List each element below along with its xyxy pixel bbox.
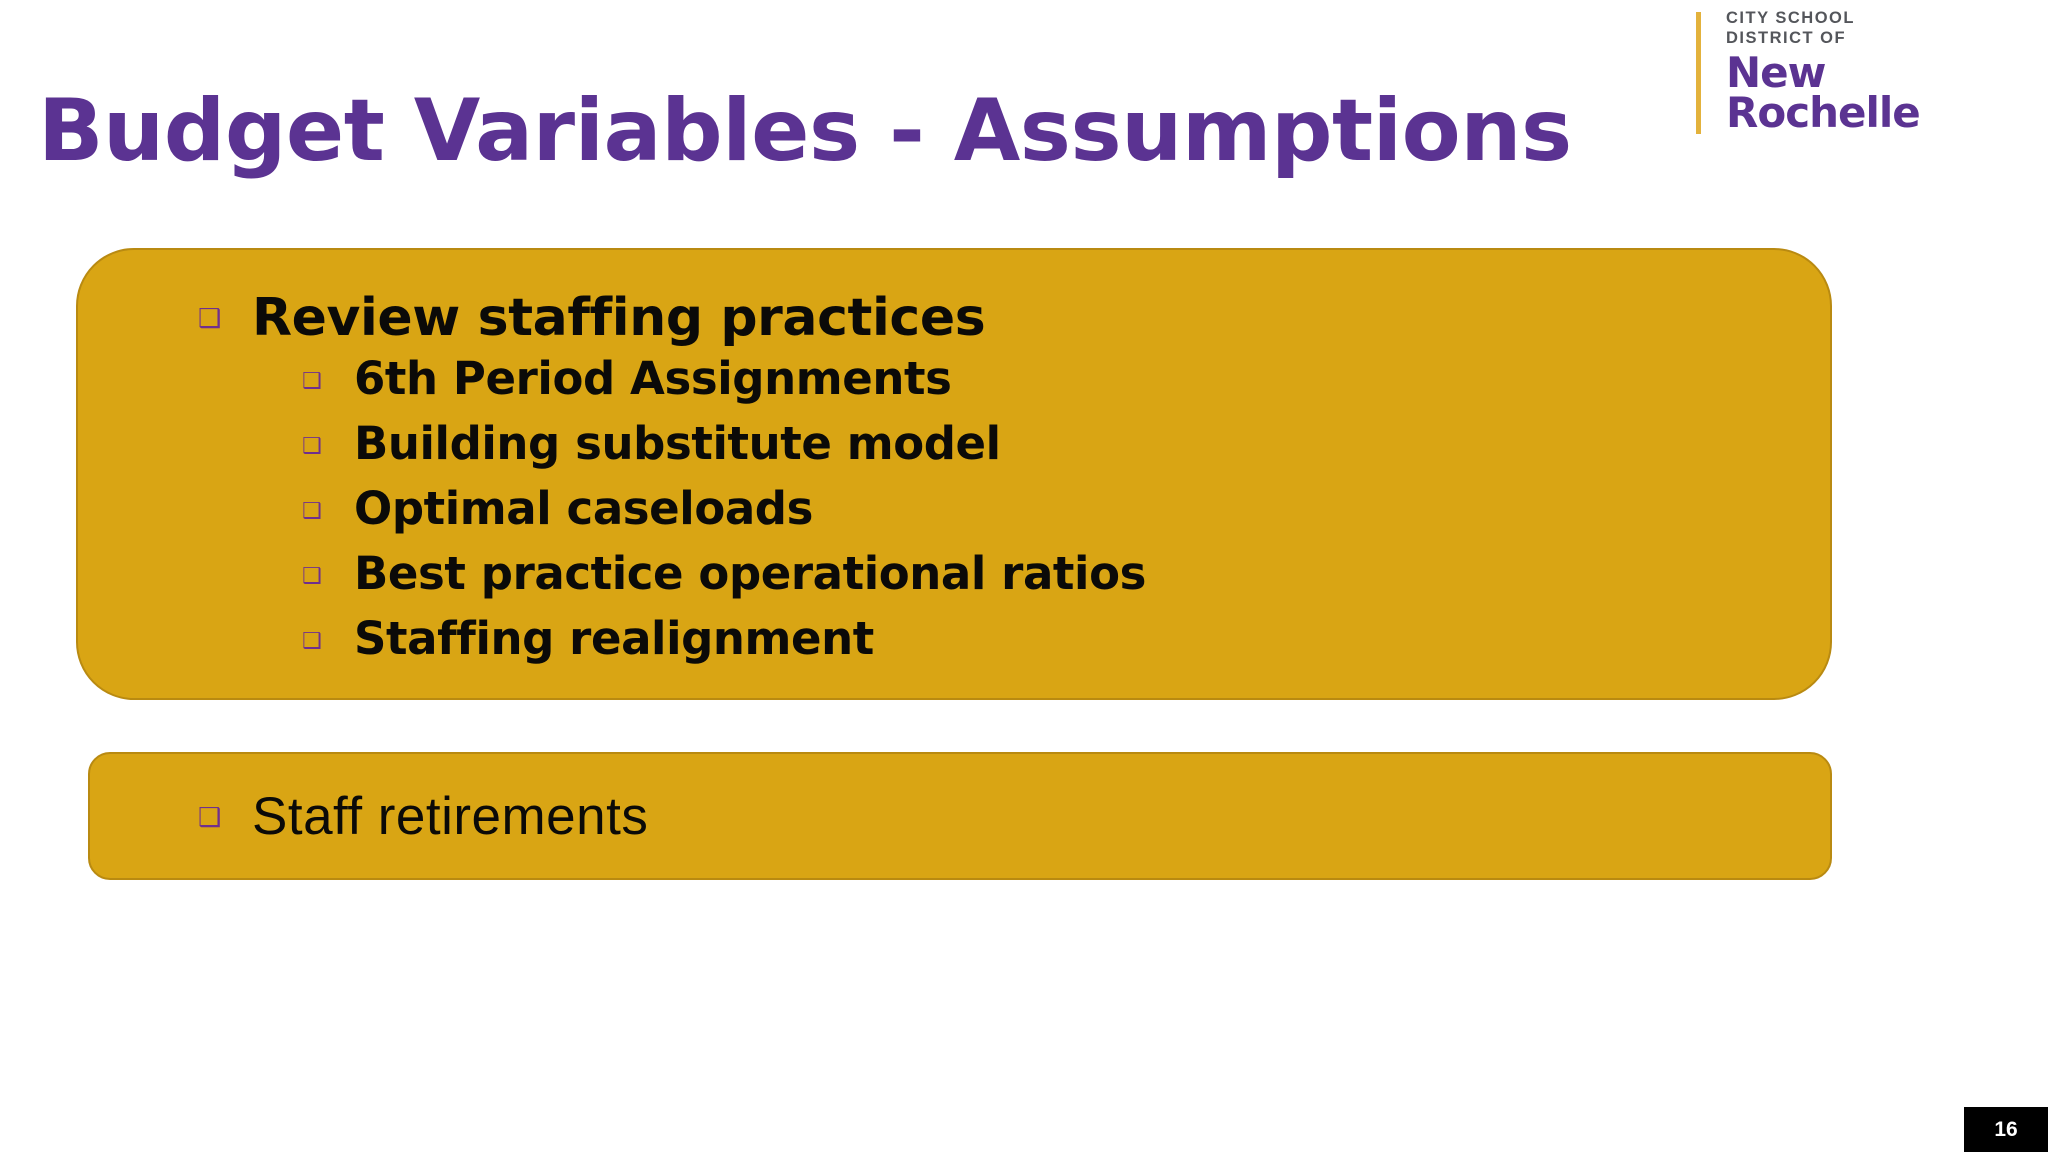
list-item-label: Optimal caseloads <box>354 482 813 535</box>
list-item-label: Review staffing practices <box>252 288 985 348</box>
list-item: ❑ Building substitute model <box>302 417 1001 470</box>
logo-name-line-2: Rochelle <box>1726 91 2032 134</box>
list-item: ❑ Best practice operational ratios <box>302 547 1146 600</box>
district-logo-text: CITY SCHOOL DISTRICT OF New Rochelle <box>1726 8 2032 138</box>
list-item: ❑ Optimal caseloads <box>302 482 813 535</box>
bullet-square-icon: ❑ <box>302 436 354 458</box>
list-item-label: Best practice operational ratios <box>354 547 1146 600</box>
page-title: Budget Variables - Assumptions <box>38 74 1678 190</box>
vertical-rule-icon <box>1696 12 1701 134</box>
list-item: ❑ Staffing realignment <box>302 612 874 665</box>
bullet-square-icon: ❑ <box>198 805 252 831</box>
list-item: ❑ 6th Period Assignments <box>302 352 951 405</box>
page-number-value: 16 <box>1994 1119 2017 1140</box>
logo-kicker-line-1: CITY SCHOOL <box>1726 8 2032 28</box>
page-number-badge: 16 <box>1964 1107 2048 1152</box>
bullet-square-icon: ❑ <box>302 371 354 393</box>
logo-kicker-line-2: DISTRICT OF <box>1726 28 2032 48</box>
list-item: ❑ Staff retirements <box>198 786 648 848</box>
list-item-label: Building substitute model <box>354 417 1001 470</box>
bullet-square-icon: ❑ <box>302 631 354 653</box>
list-item: ❑ Review staffing practices <box>198 288 985 348</box>
bullet-square-icon: ❑ <box>302 501 354 523</box>
list-item-label: 6th Period Assignments <box>354 352 951 405</box>
bullet-square-icon: ❑ <box>198 306 252 332</box>
district-logo: CITY SCHOOL DISTRICT OF New Rochelle <box>1696 8 2032 138</box>
list-item-label: Staff retirements <box>252 786 648 848</box>
list-item-label: Staffing realignment <box>354 612 874 665</box>
bullet-square-icon: ❑ <box>302 566 354 588</box>
slide-canvas: Budget Variables - Assumptions CITY SCHO… <box>0 0 2048 1152</box>
